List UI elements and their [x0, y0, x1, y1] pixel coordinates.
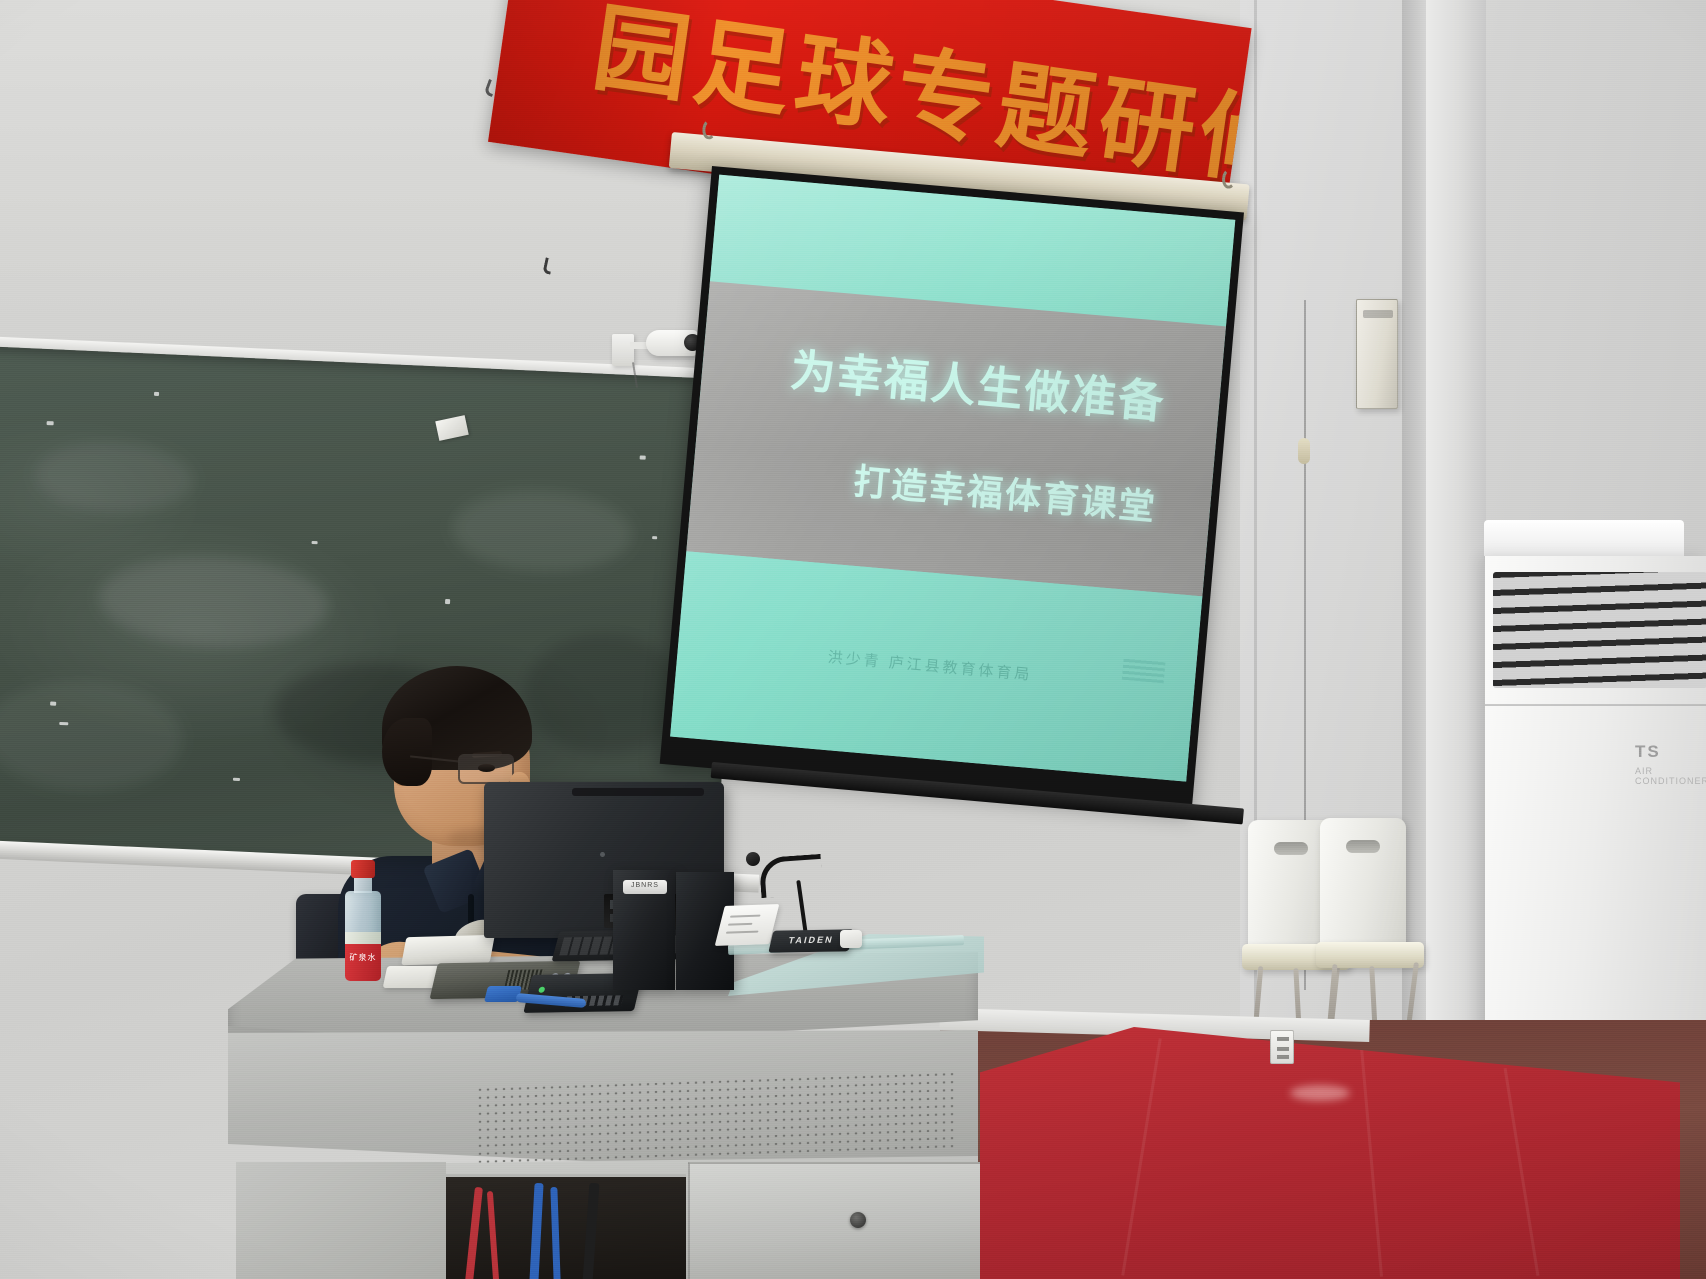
lectern-speaker-grille-icon: [476, 1070, 956, 1164]
chair-handle-slot-icon: [1346, 840, 1380, 853]
lectern-left-panel: [236, 1162, 446, 1279]
classroom-scene: 园足球专题研修班 为幸福人生做准备 打造幸福体育课堂 洪少青 庐江县教育体育局: [0, 0, 1706, 1279]
name-card: [715, 904, 780, 946]
chair-backrest: [1320, 818, 1406, 948]
bottle-cap[interactable]: [351, 860, 375, 878]
outlet-slot: [1277, 1055, 1289, 1059]
outlet-slot: [1277, 1037, 1289, 1041]
ac-panel-seam: [1485, 704, 1706, 706]
carpet-highlight: [1290, 1085, 1350, 1101]
air-conditioner[interactable]: TS AIR CONDITIONER: [1484, 556, 1706, 1056]
slide-corner-logo: [1122, 657, 1166, 683]
speaker-left: JBNRS: [613, 870, 675, 990]
switch-status-led-icon: [538, 987, 545, 993]
microphone-capsule-icon: [746, 852, 760, 866]
projection-slide: 为幸福人生做准备 打造幸福体育课堂 洪少青 庐江县教育体育局: [670, 175, 1235, 782]
cabinet-lock-icon[interactable]: [850, 1212, 866, 1228]
chair-handle-slot-icon: [1274, 842, 1308, 855]
presenter-hair-side: [382, 718, 432, 786]
white-equipment-box[interactable]: [401, 935, 495, 965]
ac-brand-mark: TS: [1635, 742, 1661, 762]
projection-screen-frame: 为幸福人生做准备 打造幸福体育课堂 洪少青 庐江县教育体育局: [660, 166, 1244, 810]
wall-pillar: [1426, 0, 1486, 1070]
roller-hook-left-icon: [702, 119, 718, 140]
ac-brand-sub: AIR CONDITIONER: [1635, 766, 1706, 786]
bottle-label: 矿泉水: [345, 944, 381, 981]
ac-louvre-grille-icon: [1493, 572, 1706, 688]
bottle-label-text: 矿泉水: [345, 952, 381, 963]
projector-screen-assembly: 为幸福人生做准备 打造幸福体育课堂 洪少青 庐江县教育体育局: [672, 132, 1262, 782]
desk-clip: [840, 930, 862, 948]
monitor-mount-screw-icon: [600, 852, 605, 857]
presenter-eye: [478, 764, 495, 772]
water-bottle[interactable]: 矿泉水: [341, 860, 385, 980]
roller-hook-right-icon: [1221, 168, 1237, 189]
speaker-brand-text: JBNRS: [623, 882, 667, 889]
speaker-brand-badge: JBNRS: [623, 880, 667, 894]
outlet-slot: [1277, 1047, 1289, 1051]
pull-cord-bead[interactable]: [1298, 438, 1310, 464]
power-outlet-icon[interactable]: [1270, 1030, 1294, 1064]
camera-bracket: [612, 334, 634, 366]
bottle-neck: [354, 877, 372, 893]
control-box-slot: [1363, 310, 1393, 318]
slide-band-middle: [686, 281, 1226, 596]
lectern-cable-bay: [446, 1174, 686, 1279]
white-power-adapter[interactable]: [383, 966, 440, 988]
monitor-vent-icon: [572, 788, 704, 796]
projector-control-box[interactable]: [1356, 299, 1398, 409]
ac-top-vent: [1484, 520, 1684, 560]
lectern-locked-cabinet[interactable]: [688, 1162, 980, 1279]
